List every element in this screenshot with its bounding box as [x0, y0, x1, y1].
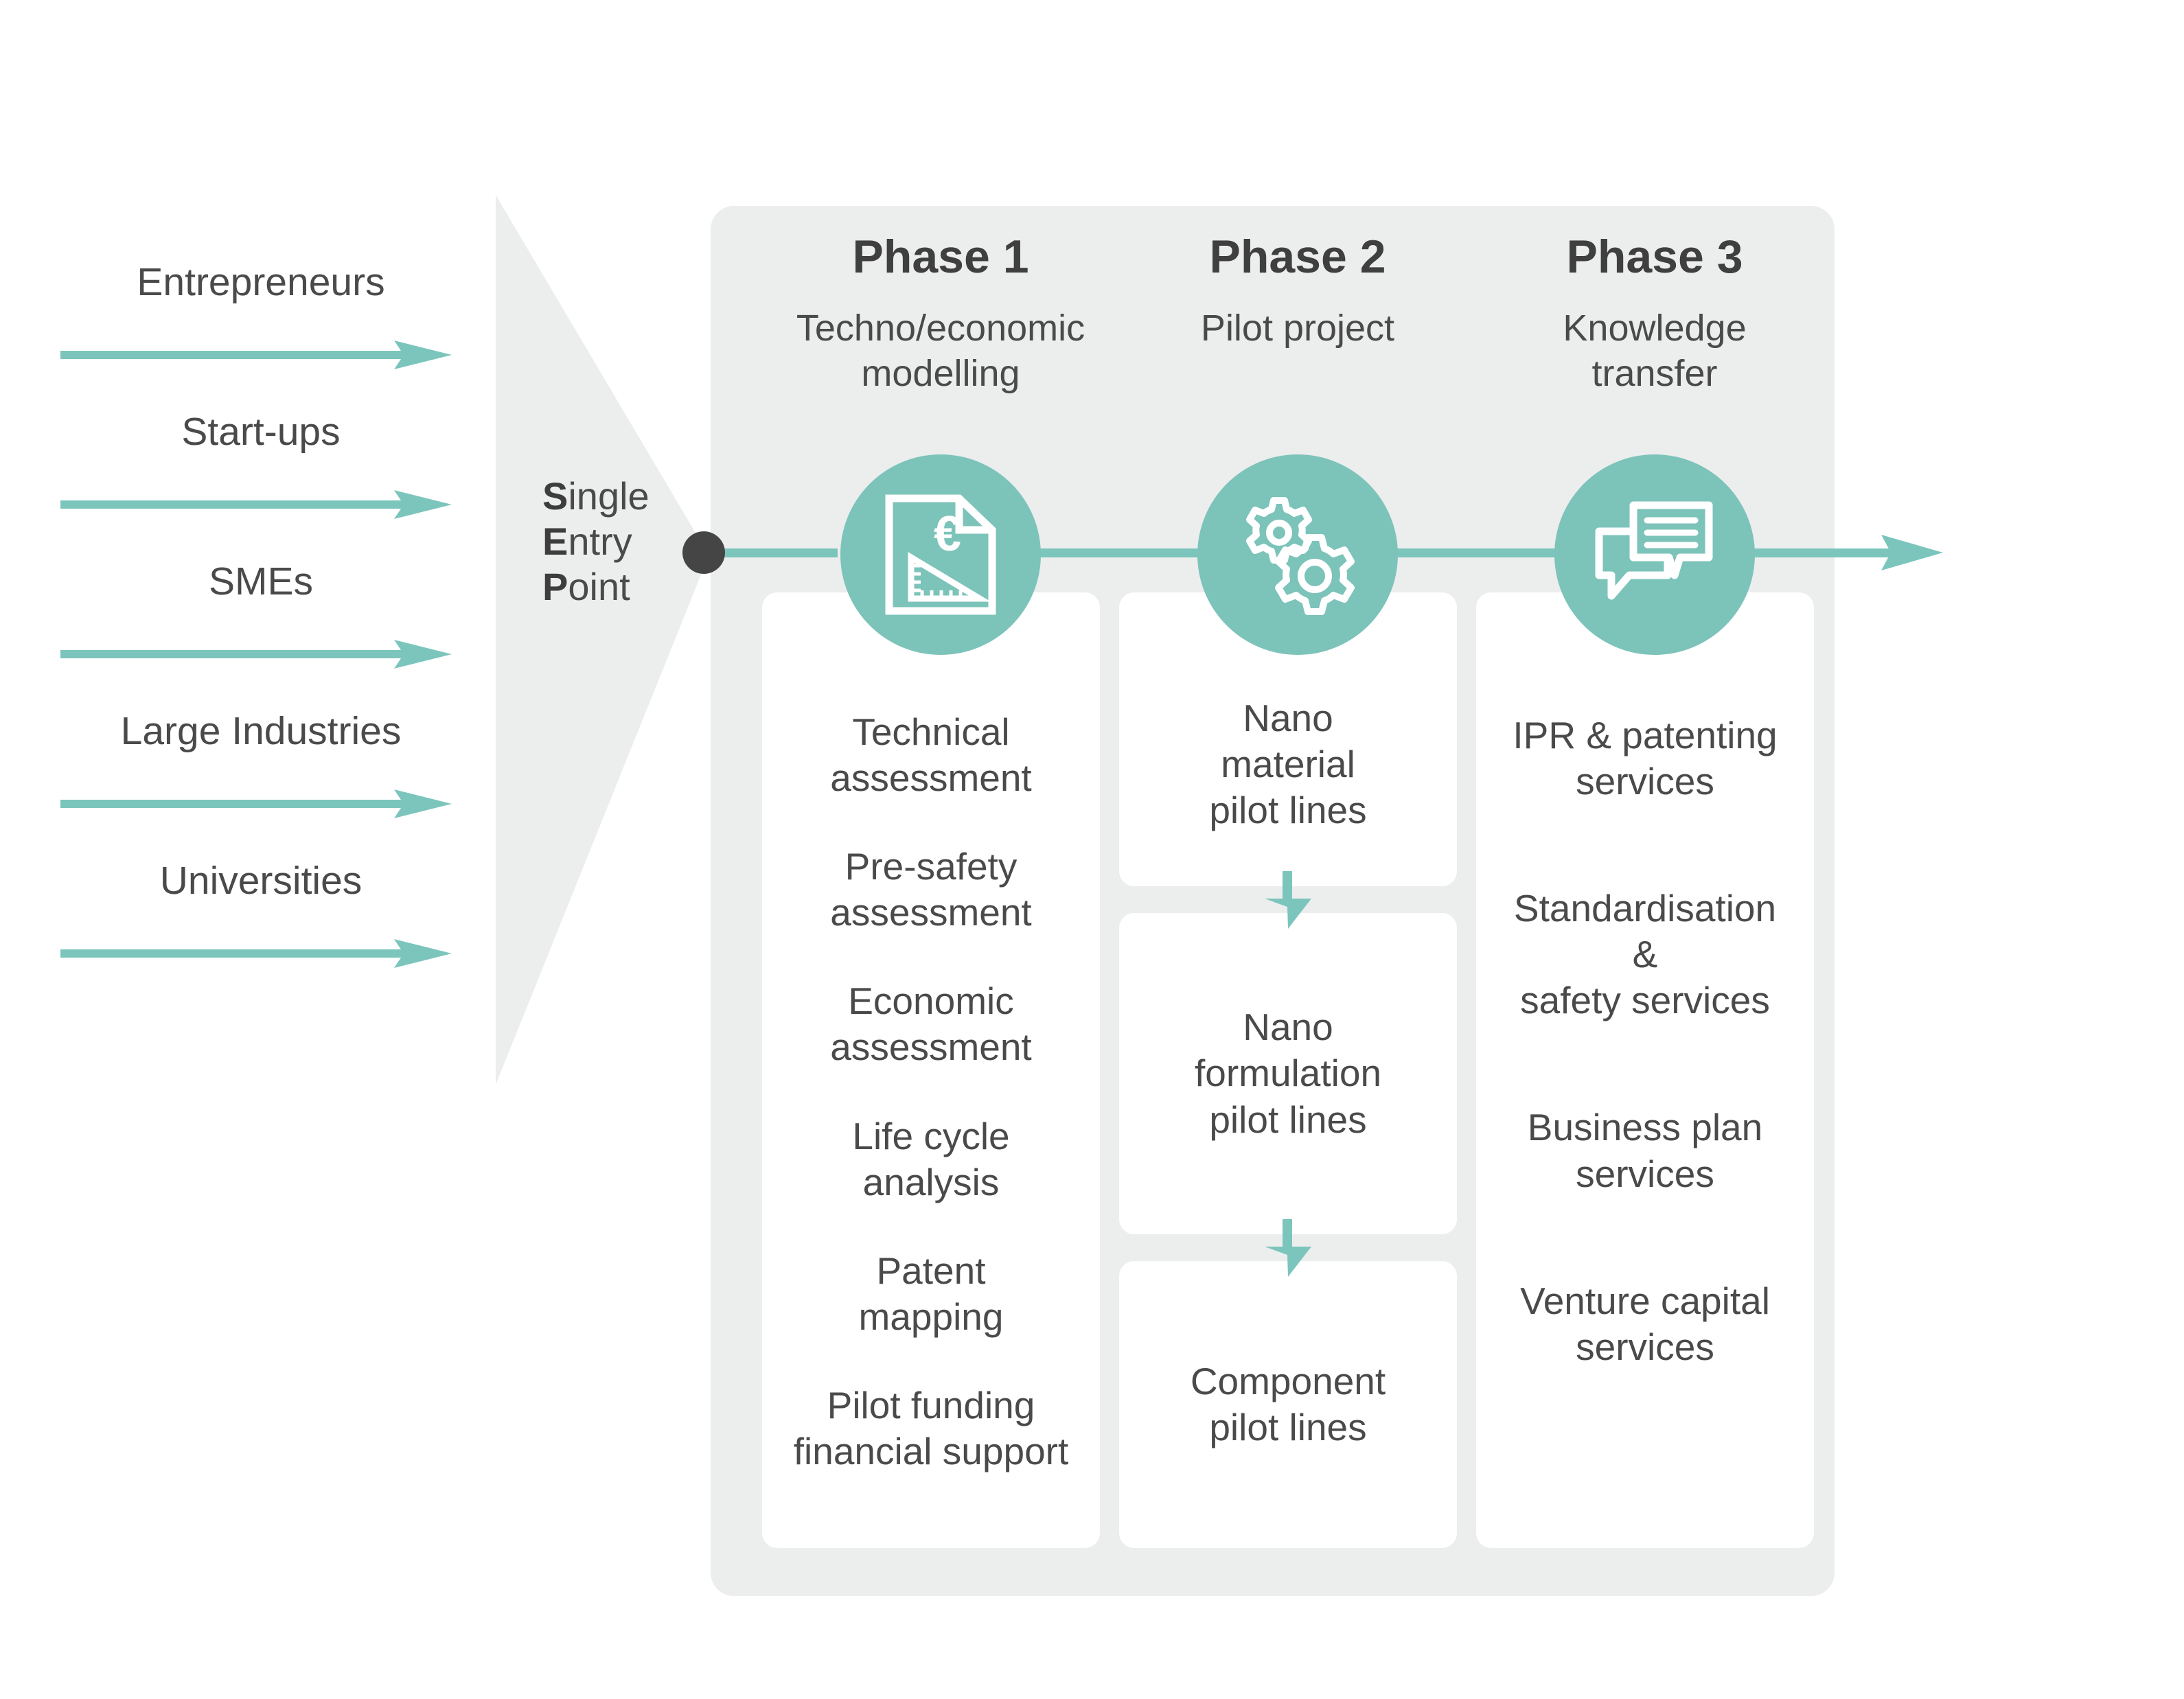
stakeholder-row: Entrepreneurs	[55, 261, 467, 411]
stakeholder-row: Large Industries	[55, 710, 467, 859]
phase-subtitle-line: Techno/economic	[793, 306, 1088, 351]
phase-subtitle-line: Knowledge	[1507, 306, 1802, 351]
stakeholder-label-entrepreneurs: Entrepreneurs	[55, 261, 467, 304]
service-item: Pre-safetyassessment	[774, 844, 1088, 936]
svg-text:€: €	[934, 507, 961, 562]
phase-subtitle-2: Pilot project	[1150, 306, 1445, 351]
flow-arrow-gap	[1119, 886, 1457, 913]
arrow-down-icon	[1263, 1219, 1313, 1277]
arrow-right-icon	[60, 486, 452, 523]
phase-column-2: Nanomaterialpilot lines Nanoformulationp…	[1119, 592, 1457, 1548]
service-item: IPR & patentingservices	[1488, 713, 1802, 805]
phase-1-icon-circle: €	[840, 454, 1041, 655]
single-entry-point-label: Single Entry Point	[542, 474, 693, 610]
arrow-right-icon	[1881, 525, 1943, 580]
document-euro-ruler-icon: €	[882, 493, 999, 616]
phase-3-icon-circle	[1554, 454, 1755, 655]
stakeholder-label-smes: SMEs	[55, 560, 467, 603]
phase-subtitle-line: transfer	[1507, 351, 1802, 397]
pilot-line-box: Componentpilot lines	[1119, 1261, 1457, 1548]
phase-header-3: Phase 3 Knowledge transfer	[1507, 233, 1802, 397]
phase-subtitle-3: Knowledge transfer	[1507, 306, 1802, 397]
stakeholder-label-universities: Universities	[55, 859, 467, 903]
phase-2-icon-circle	[1197, 454, 1398, 655]
sep-line-1: Single	[542, 474, 693, 519]
service-item: Economicassessment	[774, 978, 1088, 1070]
arrow-right-icon	[60, 336, 452, 373]
service-item: Business planservices	[1488, 1105, 1802, 1197]
speech-bubbles-icon	[1594, 498, 1716, 612]
phase-subtitle-line: modelling	[793, 351, 1088, 397]
entry-point-dot-icon	[682, 531, 725, 574]
phase-column-1: Technicalassessment Pre-safetyassessment…	[762, 592, 1100, 1548]
spine-segment	[1380, 548, 1559, 557]
service-item: Life cycleanalysis	[774, 1113, 1088, 1205]
phase-header-2: Phase 2 Pilot project	[1150, 233, 1445, 351]
pilot-line-box: Nanoformulationpilot lines	[1119, 913, 1457, 1234]
arrow-right-icon	[60, 636, 452, 673]
arrow-right-icon	[60, 785, 452, 822]
funnel-triangle-icon	[481, 185, 728, 1098]
phase-3-services-card: IPR & patentingservices Standardisation&…	[1476, 592, 1814, 1548]
arrow-down-icon	[1263, 871, 1313, 929]
spine-segment	[1023, 548, 1202, 557]
sep-line-3: Point	[542, 564, 693, 610]
stakeholder-row: Start-ups	[55, 411, 467, 560]
phase-subtitle-line: Pilot project	[1150, 306, 1445, 351]
sep-line-2: Entry	[542, 519, 693, 564]
stakeholder-inputs-group: Entrepreneurs Start-ups SMEs Large Indus…	[55, 261, 467, 1009]
flow-arrow-gap	[1119, 1234, 1457, 1261]
spine-segment	[721, 548, 838, 557]
phase-title-1: Phase 1	[793, 233, 1088, 280]
stakeholder-label-large-industries: Large Industries	[55, 710, 467, 753]
two-gears-icon	[1238, 495, 1358, 615]
service-item: Venture capitalservices	[1488, 1278, 1802, 1370]
phase-subtitle-1: Techno/economic modelling	[793, 306, 1088, 397]
stakeholder-row: Universities	[55, 859, 467, 1009]
arrow-right-icon	[60, 935, 452, 972]
service-item: Patentmapping	[774, 1248, 1088, 1340]
service-item: Pilot fundingfinancial support	[774, 1383, 1088, 1475]
phase-1-services-card: Technicalassessment Pre-safetyassessment…	[762, 592, 1100, 1548]
phase-column-3: IPR & patentingservices Standardisation&…	[1476, 592, 1814, 1548]
phase-header-1: Phase 1 Techno/economic modelling	[793, 233, 1088, 397]
stakeholder-label-start-ups: Start-ups	[55, 411, 467, 454]
phase-title-2: Phase 2	[1150, 233, 1445, 280]
stakeholder-row: SMEs	[55, 560, 467, 710]
service-item: Technicalassessment	[774, 709, 1088, 801]
phase-title-3: Phase 3	[1507, 233, 1802, 280]
service-item: Standardisation&safety services	[1488, 886, 1802, 1024]
